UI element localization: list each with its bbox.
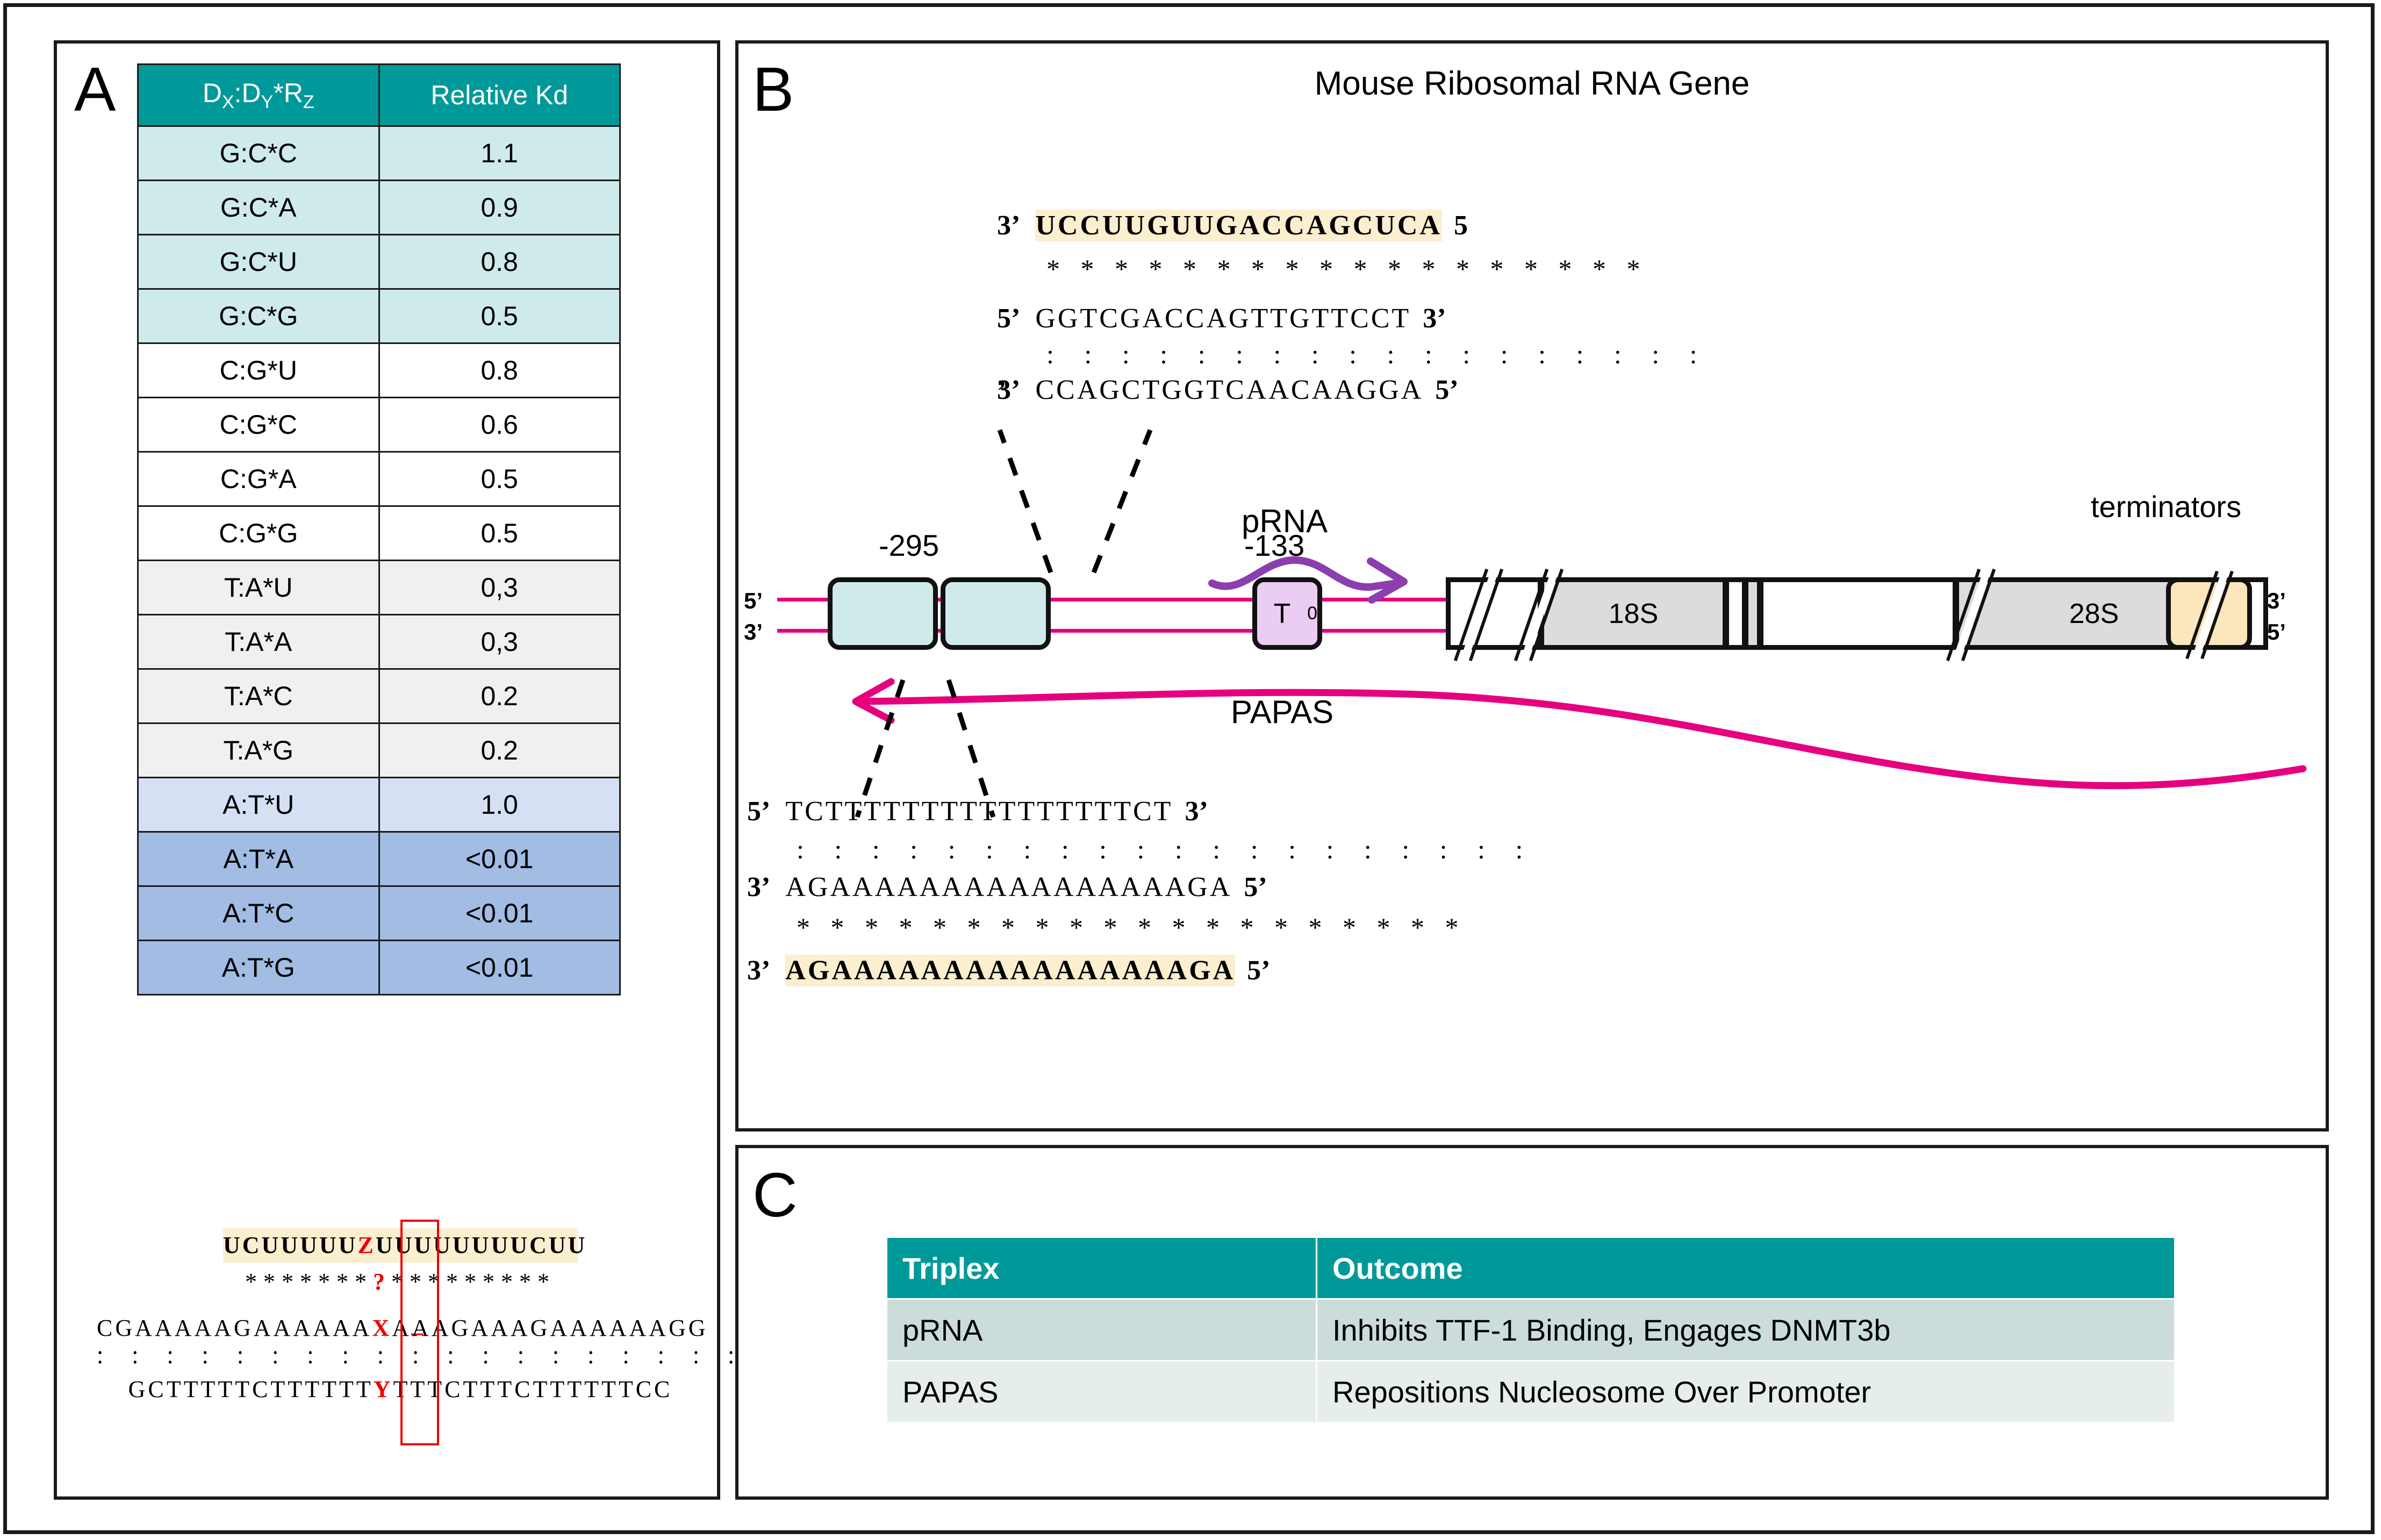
kd-cell-triplet: G:C*G — [138, 289, 379, 343]
dna-top-right-seq: AAAGAAAGAAAAAAGG — [392, 1315, 708, 1341]
papas-rna-sequence: AGAAAAAAAAAAAAAAAAGA — [785, 955, 1235, 986]
kd-cell-value: 0.5 — [379, 452, 620, 506]
kd-cell-value: <0.01 — [379, 941, 620, 995]
prna-hoogsteen-row: * * * * * * * * * * * * * * * * * * — [1046, 255, 1709, 282]
papas-rna-end-right: 5’ — [1247, 955, 1270, 986]
kd-table-row: C:G*A0.5 — [138, 452, 620, 506]
kd-table-row: C:G*U0.8 — [138, 343, 620, 398]
papas-dna-top-end-right: 3’ — [1185, 796, 1208, 827]
prna-dna-bottom-end-right: 5’ — [1435, 374, 1458, 406]
kd-cell-triplet: A:T*G — [138, 941, 379, 995]
rna-variable-z: Z — [357, 1232, 375, 1258]
kd-cell-value: 0.2 — [379, 724, 620, 778]
prna-dna-top-end-right: 3’ — [1423, 303, 1446, 334]
outcome-table-row: PAPASRepositions Nucleosome Over Promote… — [887, 1361, 2175, 1423]
enhancer-repeat-box-1 — [828, 577, 938, 650]
papas-rna-row: 3’ AGAAAAAAAAAAAAAAAAGA 5’ — [747, 955, 1534, 986]
prna-dna-bottom-row: 3’ CCAGCTGGTCAACAAGGA 5’ — [997, 374, 1709, 406]
prna-dna-top-end-left: 5’ — [997, 303, 1020, 334]
kd-table-row: G:C*G0.5 — [138, 289, 620, 343]
papas-rna-end-left: 3’ — [747, 955, 770, 986]
terminators-label: terminators — [2091, 489, 2241, 524]
outcome-cell-description: Inhibits TTF-1 Binding, Engages DNMT3b — [1317, 1299, 2175, 1361]
kd-cell-triplet: G:C*C — [138, 126, 379, 181]
papas-dna-bottom-end-left: 3’ — [747, 871, 770, 903]
unknown-bond-mark: ? — [373, 1269, 391, 1295]
kd-table-row: T:A*G0.2 — [138, 724, 620, 778]
kd-cell-value: 0.8 — [379, 343, 620, 398]
kd-table-row: G:C*U0.8 — [138, 235, 620, 289]
rna-left-seq: UCUUUUU — [223, 1232, 357, 1258]
dna-bottom-left-seq: GCTTTTTCTTTTTT — [128, 1376, 374, 1402]
kd-cell-value: 0,3 — [379, 615, 620, 669]
kd-table-row: A:T*A<0.01 — [138, 832, 620, 886]
kd-table-row: C:G*G0.5 — [138, 506, 620, 561]
kd-cell-value: <0.01 — [379, 886, 620, 941]
kd-table-row: A:T*U1.0 — [138, 778, 620, 832]
prna-watson-crick-row: : : : : : : : : : : : : : : : : : : — [1046, 341, 1709, 368]
prna-dna-top-row: 5’ GGTCGACCAGTTGTTCCT 3’ — [997, 303, 1709, 334]
kd-cell-value: 1.1 — [379, 126, 620, 181]
kd-table-row: A:T*C<0.01 — [138, 886, 620, 941]
kd-cell-triplet: G:C*A — [138, 181, 379, 235]
kd-cell-triplet: A:T*C — [138, 886, 379, 941]
papas-dna-top-sequence: TCTTTTTTTTTTTTTTTTCT — [785, 796, 1173, 827]
kd-cell-triplet: T:A*A — [138, 615, 379, 669]
kd-table-row: G:C*A0.9 — [138, 181, 620, 235]
kd-cell-value: 0.8 — [379, 235, 620, 289]
kd-table-row: T:A*A0,3 — [138, 615, 620, 669]
rrna-18s-box: 18S — [1539, 577, 1727, 650]
stray-apostrophe: ’ — [997, 375, 1006, 407]
kd-cell-triplet: C:G*U — [138, 343, 379, 398]
kd-cell-triplet: C:G*A — [138, 452, 379, 506]
prna-triplex-sequence-block: 3’ UCCUUGUUGACCAGCUCA 5 * * * * * * * * … — [997, 210, 1709, 406]
kd-cell-value: 0.5 — [379, 289, 620, 343]
prna-rna-end-left: 3’ — [997, 210, 1020, 241]
kd-cell-triplet: T:A*G — [138, 724, 379, 778]
kd-table-header-row: DX:DY*RZ Relative Kd — [138, 65, 620, 126]
kd-table-row: C:G*C0.6 — [138, 398, 620, 452]
dna-top-left-seq: CGAAAAAGAAAAAA — [97, 1315, 372, 1341]
kd-cell-value: 0.5 — [379, 506, 620, 561]
kd-cell-triplet: A:T*A — [138, 832, 379, 886]
outcome-cell-triplex: PAPAS — [887, 1361, 1317, 1423]
stars-left: ******* — [245, 1269, 373, 1295]
kd-table-row: A:T*G<0.01 — [138, 941, 620, 995]
outcome-col-header-outcome: Outcome — [1317, 1237, 2175, 1299]
kd-table-row: T:A*C0.2 — [138, 669, 620, 724]
kd-cell-triplet: T:A*U — [138, 561, 379, 615]
outcome-table-body: pRNAInhibits TTF-1 Binding, Engages DNMT… — [887, 1299, 2175, 1423]
papas-dna-bottom-sequence: AGAAAAAAAAAAAAAAAAGA — [785, 871, 1232, 903]
prna-dna-bottom-sequence: CCAGCTGGTCAACAAGGA — [1035, 374, 1423, 406]
papas-triplex-sequence-block: 5’ TCTTTTTTTTTTTTTTTTCT 3’ : : : : : : :… — [747, 796, 1534, 986]
papas-dna-top-end-left: 5’ — [747, 796, 770, 827]
triplex-schematic: UCUUUUUZUUUUUUUUCUU *******?********* – … — [97, 1228, 704, 1401]
outcome-table-row: pRNAInhibits TTF-1 Binding, Engages DNMT… — [887, 1299, 2175, 1361]
outcome-cell-triplex: pRNA — [887, 1299, 1317, 1361]
kd-cell-triplet: C:G*G — [138, 506, 379, 561]
gene-left-end-5prime: 5’ — [744, 588, 763, 614]
gene-right-end-3prime: 3’ — [2267, 588, 2286, 614]
kd-col-header-value: Relative Kd — [379, 65, 620, 126]
kd-col-header-triplet: DX:DY*RZ — [138, 65, 379, 126]
enhancer-repeat-box-2 — [941, 577, 1051, 650]
prna-rna-end-right: 5 — [1454, 210, 1468, 241]
its2-box — [1759, 577, 1957, 650]
outcome-col-header-triplex: Triplex — [887, 1237, 1317, 1299]
papas-watson-crick-row: : : : : : : : : : : : : : : : : : : : : — [797, 836, 1534, 863]
kd-cell-value: 0.6 — [379, 398, 620, 452]
dna-variable-y: Y — [374, 1376, 393, 1402]
panel-b-title: Mouse Ribosomal RNA Gene — [735, 65, 2329, 103]
gene-right-end-5prime: 5’ — [2267, 619, 2286, 645]
kd-table-body: G:C*C1.1G:C*A0.9G:C*U0.8G:C*G0.5C:G*U0.8… — [138, 126, 620, 995]
kd-cell-triplet: A:T*U — [138, 778, 379, 832]
kd-cell-triplet: C:G*C — [138, 398, 379, 452]
papas-dna-bottom-end-right: 5’ — [1244, 871, 1267, 903]
gene-left-end-3prime: 3’ — [744, 619, 763, 645]
outcome-table-header-row: Triplex Outcome — [887, 1237, 2175, 1299]
panel-a-letter: A — [74, 58, 116, 120]
kd-cell-triplet: T:A*C — [138, 669, 379, 724]
variable-position-highlight-box — [400, 1220, 439, 1445]
kd-cell-value: 1.0 — [379, 778, 620, 832]
kd-cell-value: 0.2 — [379, 669, 620, 724]
outcome-cell-description: Repositions Nucleosome Over Promoter — [1317, 1361, 2175, 1423]
dna-variable-x: X — [372, 1315, 392, 1341]
callout-lines-prna — [742, 419, 1602, 575]
relative-kd-table: DX:DY*RZ Relative Kd G:C*C1.1G:C*A0.9G:C… — [137, 63, 621, 995]
kd-cell-value: 0.9 — [379, 181, 620, 235]
panel-c-letter: C — [752, 1164, 798, 1226]
prna-rna-sequence: UCCUUGUUGACCAGCUCA — [1035, 210, 1442, 241]
prna-rna-row: 3’ UCCUUGUUGACCAGCUCA 5 — [997, 210, 1709, 241]
prna-dna-top-sequence: GGTCGACCAGTTGTTCCT — [1035, 303, 1411, 334]
papas-dna-top-row: 5’ TCTTTTTTTTTTTTTTTTCT 3’ — [747, 796, 1534, 827]
figure-canvas: A DX:DY*RZ Relative Kd G:C*C1.1G:C*A0.9G… — [0, 0, 2381, 1540]
kd-table-row: G:C*C1.1 — [138, 126, 620, 181]
papas-dna-bottom-row: 3’ AGAAAAAAAAAAAAAAAAGA 5’ — [747, 871, 1534, 903]
kd-cell-triplet: G:C*U — [138, 235, 379, 289]
kd-cell-value: <0.01 — [379, 832, 620, 886]
rrna-18s-label: 18S — [1544, 582, 1723, 645]
triplex-outcome-table: Triplex Outcome pRNAInhibits TTF-1 Bindi… — [886, 1236, 2176, 1423]
papas-hoogsteen-row: * * * * * * * * * * * * * * * * * * * * — [797, 914, 1534, 941]
kd-cell-value: 0,3 — [379, 561, 620, 615]
kd-table-row: T:A*U0,3 — [138, 561, 620, 615]
